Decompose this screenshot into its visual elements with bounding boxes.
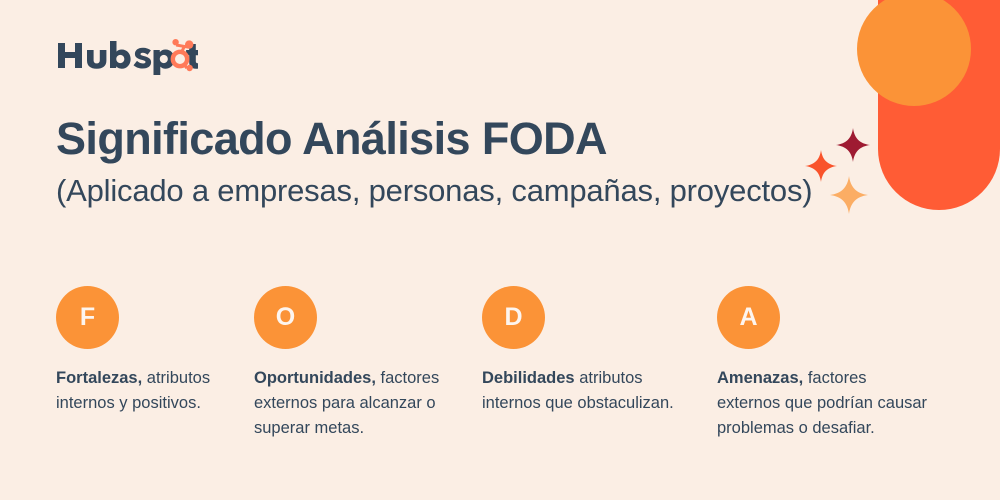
letter-badge-a: A bbox=[717, 286, 780, 349]
swot-column-text: Debilidades atributos internos que obsta… bbox=[482, 366, 699, 416]
orange-circle-shape bbox=[857, 0, 971, 106]
hubspot-logo-svg bbox=[56, 37, 198, 75]
swot-columns: F Fortalezas, atributos internos y posit… bbox=[56, 286, 946, 441]
rounded-pill-shape bbox=[878, 0, 1000, 210]
swot-column-amenazas: A Amenazas, factores externos que podría… bbox=[717, 286, 946, 441]
page-subtitle: (Aplicado a empresas, personas, campañas… bbox=[56, 171, 836, 211]
swot-column-text: Fortalezas, atributos internos y positiv… bbox=[56, 366, 236, 416]
letter-badge-f: F bbox=[56, 286, 119, 349]
headline-block: Significado Análisis FODA (Aplicado a em… bbox=[56, 116, 836, 211]
hubspot-logo bbox=[56, 36, 198, 76]
swot-infographic: Significado Análisis FODA (Aplicado a em… bbox=[0, 0, 1000, 500]
swot-column-oportunidades: O Oportunidades, factores externos para … bbox=[254, 286, 482, 441]
page-title: Significado Análisis FODA bbox=[56, 116, 836, 161]
swot-column-debilidades: D Debilidades atributos internos que obs… bbox=[482, 286, 717, 416]
swot-column-text: Amenazas, factores externos que podrían … bbox=[717, 366, 928, 441]
letter-badge-o: O bbox=[254, 286, 317, 349]
swot-term: Amenazas, bbox=[717, 369, 803, 387]
swot-term: Fortalezas, bbox=[56, 369, 142, 387]
swot-column-fortalezas: F Fortalezas, atributos internos y posit… bbox=[56, 286, 254, 416]
sparkle-dark-red-icon bbox=[836, 128, 870, 162]
swot-term: Debilidades bbox=[482, 369, 575, 387]
swot-column-text: Oportunidades, factores externos para al… bbox=[254, 366, 464, 441]
letter-badge-d: D bbox=[482, 286, 545, 349]
swot-term: Oportunidades, bbox=[254, 369, 376, 387]
